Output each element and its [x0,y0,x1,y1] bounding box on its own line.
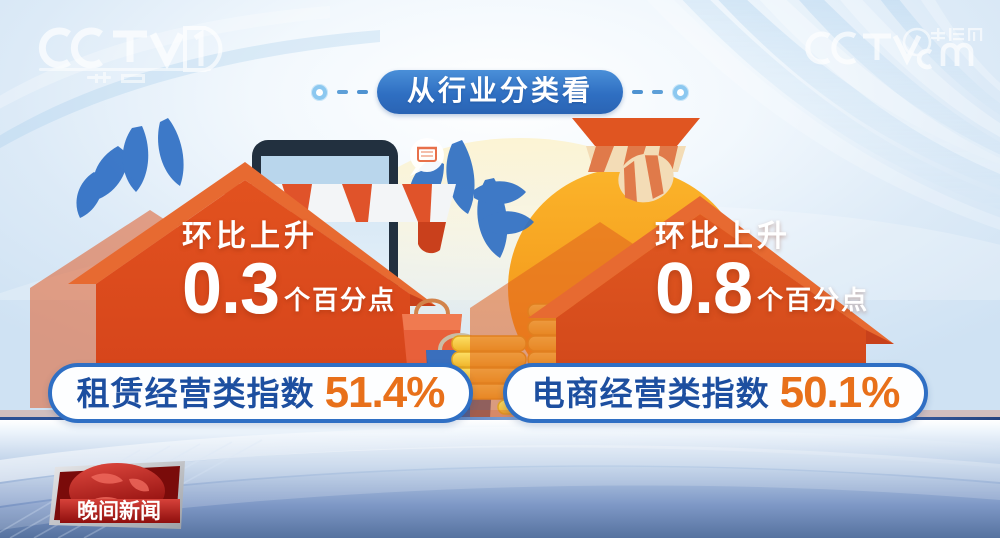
result-pill-leasing: 租赁经营类指数 51.4% [48,363,473,423]
change-unit-ecommerce: 个百分点 [757,287,869,313]
change-value-leasing: 0.3 [182,258,279,321]
change-label-ecommerce: 环比上升 [655,222,869,252]
result-value-ecommerce: 50.1% [780,371,900,415]
result-label-ecommerce: 电商经营类指数 [532,377,770,410]
banner-title-text: 从行业分类看 [407,77,593,105]
section-title-banner: 从行业分类看 [0,68,1000,116]
result-label-leasing: 租赁经营类指数 [77,377,315,410]
banner-left-dot-icon [311,84,328,101]
banner-right-dash-2 [652,90,663,94]
change-label-leasing: 环比上升 [182,222,396,252]
banner-right-dot-icon [672,84,689,101]
change-unit-leasing: 个百分点 [284,287,396,313]
result-pill-ecommerce: 电商经营类指数 50.1% [503,363,928,423]
change-value-ecommerce: 0.8 [655,258,752,321]
banner-right-dash-1 [632,90,643,94]
result-value-leasing: 51.4% [325,371,445,415]
broadcast-graphic: 从行业分类看 [0,0,1000,538]
panel-ecommerce-change: 环比上升 0.8 个百分点 [655,222,869,321]
panel-leasing-change: 环比上升 0.3 个百分点 [182,222,396,321]
leaf-cluster-left [76,118,183,218]
svg-text:晚间新闻: 晚间新闻 [77,499,161,523]
program-logo-evening-news: 晚间新闻 [43,459,193,533]
banner-left-dash-1 [337,90,348,94]
banner-pill: 从行业分类看 [377,70,623,114]
banner-left-dash-2 [357,90,368,94]
program-name-glyphs: 晚间新闻 [77,499,161,523]
